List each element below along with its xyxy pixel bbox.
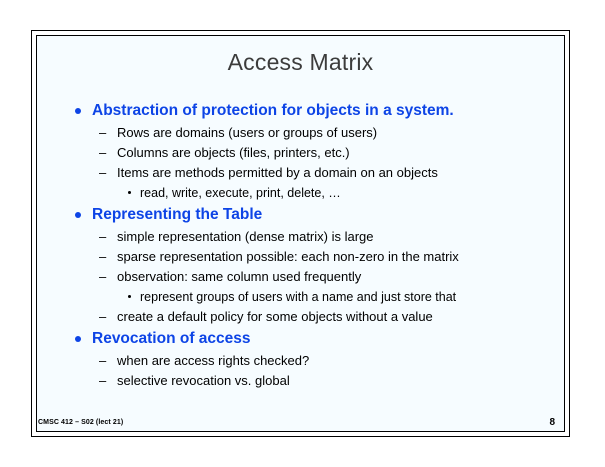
- bullet-text: represent groups of users with a name an…: [140, 290, 456, 304]
- bullet-level1: Representing the Table: [36, 203, 565, 227]
- dash-bullet-icon: –: [99, 307, 111, 327]
- page-title: Access Matrix: [36, 49, 565, 76]
- bullet-text: observation: same column used frequently: [117, 269, 361, 284]
- small-dot-bullet-icon: [128, 295, 131, 298]
- bullet-text: Items are methods permitted by a domain …: [117, 165, 438, 180]
- bullet-text: simple representation (dense matrix) is …: [117, 229, 374, 244]
- bullet-text: when are access rights checked?: [117, 353, 309, 368]
- bullet-level2: – simple representation (dense matrix) i…: [36, 227, 565, 247]
- disc-bullet-icon: [75, 108, 81, 114]
- dash-bullet-icon: –: [99, 351, 111, 371]
- bullet-text: Rows are domains (users or groups of use…: [117, 125, 377, 140]
- bullet-level2: – Rows are domains (users or groups of u…: [36, 123, 565, 143]
- bullet-text: Revocation of access: [92, 330, 251, 347]
- bullet-level2: – selective revocation vs. global: [36, 371, 565, 391]
- bullet-text: sparse representation possible: each non…: [117, 249, 459, 264]
- bullet-text: Columns are objects (files, printers, et…: [117, 145, 350, 160]
- dash-bullet-icon: –: [99, 163, 111, 183]
- bullet-text: read, write, execute, print, delete, …: [140, 186, 341, 200]
- page-number: 8: [549, 417, 555, 428]
- bullet-level3: read, write, execute, print, delete, …: [36, 183, 565, 203]
- bullet-level2: – Columns are objects (files, printers, …: [36, 143, 565, 163]
- bullet-level2: – sparse representation possible: each n…: [36, 247, 565, 267]
- dash-bullet-icon: –: [99, 267, 111, 287]
- bullet-level2: – create a default policy for some objec…: [36, 307, 565, 327]
- bullet-level3: represent groups of users with a name an…: [36, 287, 565, 307]
- disc-bullet-icon: [75, 336, 81, 342]
- bullet-text: Representing the Table: [92, 206, 262, 223]
- bullet-level2: – when are access rights checked?: [36, 351, 565, 371]
- bullet-list: Abstraction of protection for objects in…: [36, 99, 565, 391]
- small-dot-bullet-icon: [128, 191, 131, 194]
- bullet-text: Abstraction of protection for objects in…: [92, 102, 454, 119]
- dash-bullet-icon: –: [99, 247, 111, 267]
- disc-bullet-icon: [75, 212, 81, 218]
- slide-canvas: Access Matrix Abstraction of protection …: [36, 35, 565, 432]
- bullet-level2: – observation: same column used frequent…: [36, 267, 565, 287]
- bullet-level1: Abstraction of protection for objects in…: [36, 99, 565, 123]
- dash-bullet-icon: –: [99, 371, 111, 391]
- bullet-level1: Revocation of access: [36, 327, 565, 351]
- bullet-text: create a default policy for some objects…: [117, 309, 433, 324]
- bullet-text: selective revocation vs. global: [117, 373, 290, 388]
- dash-bullet-icon: –: [99, 143, 111, 163]
- dash-bullet-icon: –: [99, 227, 111, 247]
- dash-bullet-icon: –: [99, 123, 111, 143]
- slide-footer: CMSC 412 – S02 (lect 21): [38, 419, 123, 426]
- bullet-level2: – Items are methods permitted by a domai…: [36, 163, 565, 183]
